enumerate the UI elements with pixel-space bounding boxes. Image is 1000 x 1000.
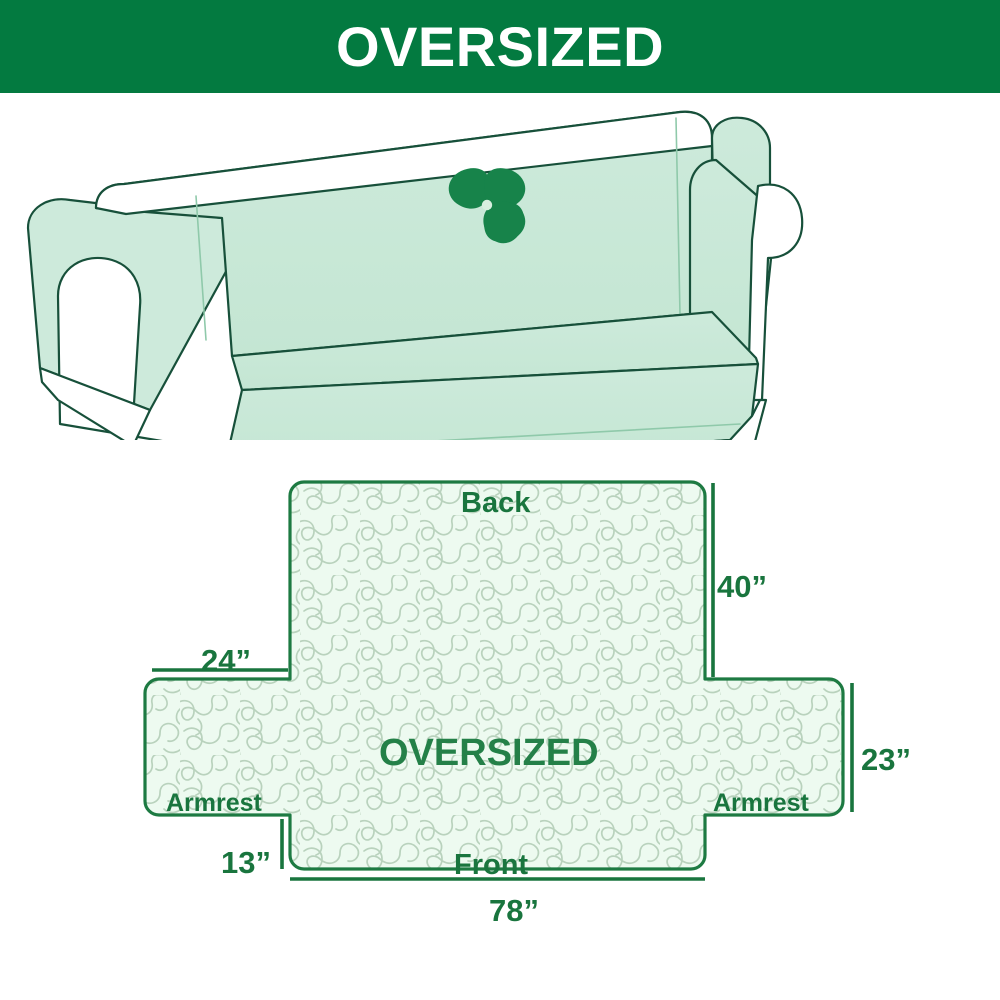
- cover-layout-drawing: [0, 455, 1000, 925]
- page-title: OVERSIZED: [336, 19, 664, 75]
- header-banner: OVERSIZED: [0, 0, 1000, 93]
- sofa-drawing: [0, 100, 1000, 440]
- dimension-diagram: [0, 455, 1000, 925]
- sofa-illustration: [0, 100, 1000, 440]
- cover-outline: [145, 482, 843, 869]
